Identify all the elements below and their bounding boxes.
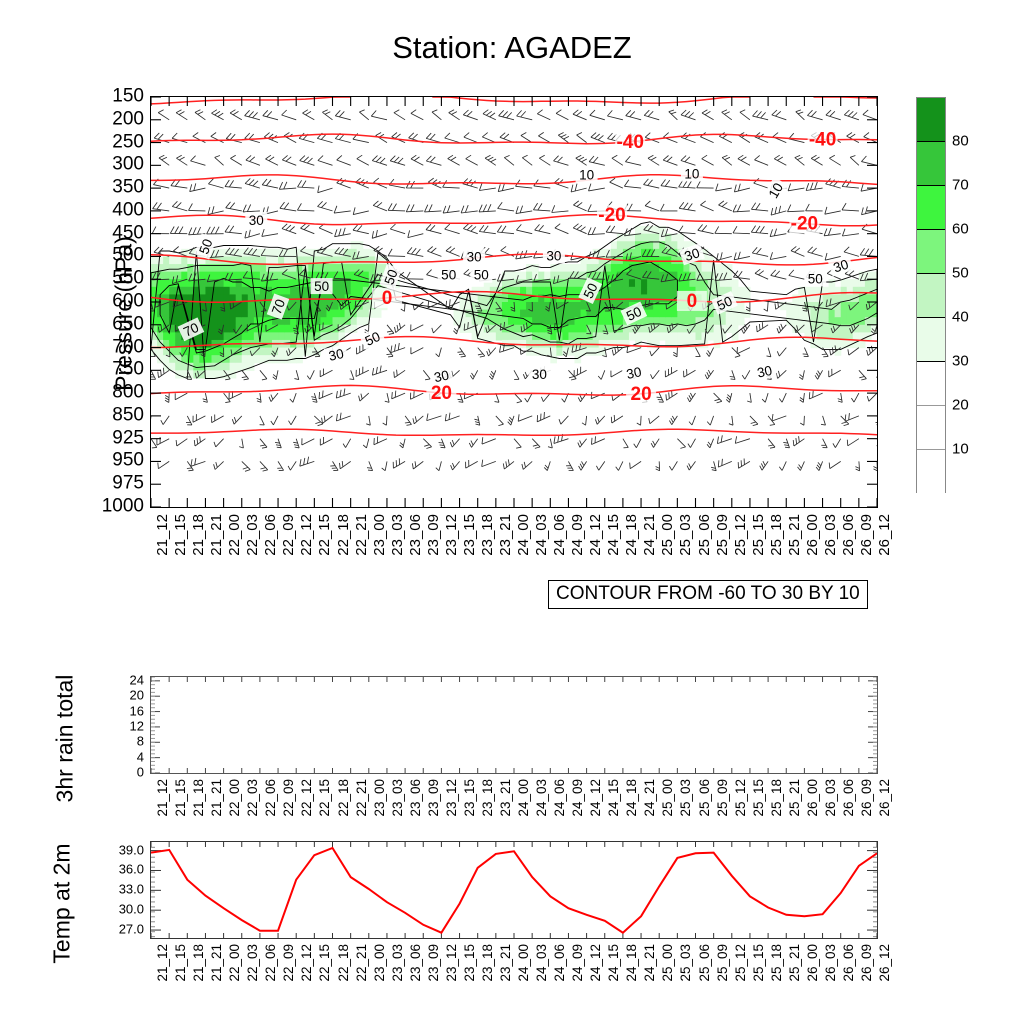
xtick: 25_03 <box>678 944 693 982</box>
xtick: 21_12 <box>155 944 170 982</box>
xtick: 25_06 <box>697 944 712 982</box>
xtick: 26_12 <box>877 779 892 817</box>
xtick: 22_06 <box>263 944 278 982</box>
xtick: 22_12 <box>299 514 314 556</box>
rain-plot[interactable] <box>150 676 878 774</box>
xtick: 22_21 <box>354 779 369 817</box>
isotherm-label: 20 <box>431 383 452 404</box>
xtick: 21_18 <box>191 514 206 556</box>
xtick: 23_09 <box>426 944 441 982</box>
cross-section-canvas: -40-40-20-200020203050707050505050503030… <box>151 97 877 507</box>
isotherm-label: -20 <box>791 214 818 235</box>
xtick: 26_12 <box>877 514 892 556</box>
xtick: 24_12 <box>588 514 603 556</box>
xtick: 24_18 <box>624 944 639 982</box>
xtick: 24_00 <box>516 944 531 982</box>
rain-ytick: 12 <box>130 719 144 732</box>
main-ytick: 450 <box>112 223 144 242</box>
xtick: 21_21 <box>209 779 224 817</box>
xtick: 23_06 <box>408 779 423 817</box>
xtick: 24_15 <box>606 779 621 817</box>
colorbar-tick: 60 <box>952 222 969 237</box>
xtick: 21_18 <box>191 944 206 982</box>
xtick: 23_15 <box>462 779 477 817</box>
xtick: 25_06 <box>697 779 712 817</box>
xtick: 26_00 <box>805 514 820 556</box>
xtick: 24_12 <box>588 779 603 817</box>
rh-label: 30 <box>327 346 345 364</box>
colorbar-band <box>917 274 945 318</box>
xtick: 23_21 <box>498 779 513 817</box>
colorbar-tick: 30 <box>952 354 969 369</box>
xtick: 23_15 <box>462 944 477 982</box>
colorbar-band <box>917 362 945 406</box>
xtick: 26_03 <box>823 779 838 817</box>
xtick: 23_18 <box>480 944 495 982</box>
xtick: 25_15 <box>751 779 766 817</box>
isotherm-label: 20 <box>631 384 652 405</box>
rain-ticks <box>151 677 877 773</box>
xtick: 25_06 <box>697 514 712 556</box>
xtick: 24_21 <box>642 779 657 817</box>
xtick: 25_21 <box>787 944 802 982</box>
xtick: 24_09 <box>570 944 585 982</box>
xtick: 26_09 <box>859 514 874 556</box>
rain-canvas <box>151 677 877 773</box>
temp-xaxis-ticklabels: 21_1221_1521_1821_2122_0022_0322_0622_09… <box>150 944 878 1008</box>
xtick: 25_09 <box>715 944 730 982</box>
xtick: 24_00 <box>516 514 531 556</box>
temp-ytick: 33.0 <box>119 883 144 896</box>
xtick: 22_00 <box>227 514 242 556</box>
xtick: 25_21 <box>787 779 802 817</box>
xtick: 22_12 <box>299 779 314 817</box>
xtick: 23_12 <box>444 944 459 982</box>
xtick: 22_06 <box>263 514 278 556</box>
xtick: 25_00 <box>660 514 675 556</box>
xtick: 24_09 <box>570 779 585 817</box>
xtick: 22_00 <box>227 779 242 817</box>
rh-label: 30 <box>249 213 264 228</box>
main-ytick: 250 <box>112 132 144 151</box>
xtick: 24_21 <box>642 514 657 556</box>
rh-label: 30 <box>532 367 547 382</box>
xtick: 21_12 <box>155 779 170 817</box>
xtick: 22_03 <box>245 514 260 556</box>
xtick: 23_00 <box>372 944 387 982</box>
xtick: 21_15 <box>173 779 188 817</box>
xtick: 21_15 <box>173 514 188 556</box>
xtick: 22_18 <box>336 944 351 982</box>
main-ytick: 400 <box>112 200 144 219</box>
colorbar-tick: 20 <box>952 398 969 413</box>
xtick: 26_00 <box>805 944 820 982</box>
xtick: 24_18 <box>624 514 639 556</box>
xtick: 25_03 <box>678 779 693 817</box>
xtick: 22_03 <box>245 779 260 817</box>
rain-ytick: 8 <box>137 735 144 748</box>
xtick: 25_21 <box>787 514 802 556</box>
colorbar-band <box>917 186 945 230</box>
xtick: 25_15 <box>751 514 766 556</box>
temp-yaxis-title: Temp at 2m <box>49 804 76 1004</box>
main-yaxis-ticklabels: 1502002503003504004505005506006507007508… <box>60 96 144 508</box>
xtick: 23_03 <box>390 944 405 982</box>
colorbar-band <box>917 142 945 186</box>
rain-yaxis-ticklabels: 04812162024 <box>96 676 144 774</box>
xtick: 22_18 <box>336 779 351 817</box>
temp-ytick: 36.0 <box>119 863 144 876</box>
xtick: 25_15 <box>751 944 766 982</box>
xtick: 26_06 <box>841 944 856 982</box>
contour-note-box: CONTOUR FROM -60 TO 30 BY 10 <box>548 580 868 609</box>
rain-ytick: 16 <box>130 704 144 717</box>
colorbar-labels: 8070605040302010 <box>952 97 1012 493</box>
xtick: 25_18 <box>769 944 784 982</box>
temp-series-line <box>151 848 877 933</box>
xtick: 23_21 <box>498 944 513 982</box>
rh-label: 10 <box>684 167 699 182</box>
rh-label: 50 <box>441 268 456 283</box>
xtick: 25_12 <box>733 514 748 556</box>
xtick: 24_06 <box>552 514 567 556</box>
rain-ytick: 24 <box>130 673 144 686</box>
xtick: 24_06 <box>552 779 567 817</box>
isotherm-label: -40 <box>616 132 643 153</box>
cross-section-plot[interactable]: -40-40-20-200020203050707050505050503030… <box>150 96 878 508</box>
main-ytick: 700 <box>112 337 144 356</box>
main-ytick: 350 <box>112 178 144 197</box>
temp-canvas <box>151 842 877 938</box>
main-ytick: 500 <box>112 246 144 265</box>
xtick: 26_03 <box>823 514 838 556</box>
xtick: 23_00 <box>372 514 387 556</box>
xtick: 24_21 <box>642 944 657 982</box>
main-ytick: 925 <box>112 428 144 447</box>
xtick: 26_03 <box>823 944 838 982</box>
xtick: 22_09 <box>281 944 296 982</box>
colorbar-tick: 40 <box>952 310 969 325</box>
rain-ytick: 4 <box>137 750 144 763</box>
temp-ticks <box>151 842 877 938</box>
rh-label: 30 <box>467 249 482 264</box>
xtick: 26_06 <box>841 514 856 556</box>
main-ytick: 150 <box>112 87 144 106</box>
xtick: 23_21 <box>498 514 513 556</box>
isotherm-label: 0 <box>687 291 698 312</box>
xtick: 24_12 <box>588 944 603 982</box>
rh-label: 30 <box>546 249 561 264</box>
xtick: 23_09 <box>426 514 441 556</box>
xtick: 25_12 <box>733 779 748 817</box>
rh-label: 30 <box>433 367 451 385</box>
main-ytick: 750 <box>112 360 144 379</box>
xtick: 23_03 <box>390 779 405 817</box>
xtick: 21_18 <box>191 779 206 817</box>
rh-label: 30 <box>625 364 643 382</box>
xtick: 22_12 <box>299 944 314 982</box>
isotherm-label: -20 <box>598 205 625 226</box>
rain-xaxis-ticklabels: 21_1221_1521_1821_2122_0022_0322_0622_09… <box>150 779 878 843</box>
main-ytick: 950 <box>112 451 144 470</box>
xtick: 22_18 <box>336 514 351 556</box>
xtick: 25_18 <box>769 514 784 556</box>
temp-ytick: 30.0 <box>119 903 144 916</box>
temp-plot[interactable] <box>150 841 878 939</box>
colorbar-band <box>917 406 945 450</box>
xtick: 23_15 <box>462 514 477 556</box>
main-ytick: 1000 <box>102 497 144 516</box>
xtick: 22_15 <box>317 779 332 817</box>
rh-label: 10 <box>579 167 594 182</box>
xtick: 24_15 <box>606 944 621 982</box>
xtick: 23_06 <box>408 944 423 982</box>
xtick: 22_15 <box>317 944 332 982</box>
main-ytick: 300 <box>112 155 144 174</box>
xtick: 26_12 <box>877 944 892 982</box>
xtick: 21_21 <box>209 514 224 556</box>
rh-label: 50 <box>474 268 489 283</box>
main-ytick: 650 <box>112 314 144 333</box>
xtick: 23_18 <box>480 779 495 817</box>
colorbar-tick: 50 <box>952 266 969 281</box>
xtick: 24_15 <box>606 514 621 556</box>
xtick: 25_00 <box>660 944 675 982</box>
xtick: 24_03 <box>534 944 549 982</box>
xtick: 24_06 <box>552 944 567 982</box>
xtick: 23_09 <box>426 779 441 817</box>
xtick: 26_00 <box>805 779 820 817</box>
xtick: 23_03 <box>390 514 405 556</box>
xtick: 21_15 <box>173 944 188 982</box>
xtick: 22_06 <box>263 779 278 817</box>
main-ytick: 200 <box>112 109 144 128</box>
xtick: 25_03 <box>678 514 693 556</box>
xtick: 24_18 <box>624 779 639 817</box>
xtick: 25_09 <box>715 514 730 556</box>
temp-ytick: 39.0 <box>119 843 144 856</box>
xtick: 22_00 <box>227 944 242 982</box>
xtick: 25_09 <box>715 779 730 817</box>
xtick: 24_03 <box>534 514 549 556</box>
xtick: 24_00 <box>516 779 531 817</box>
chart-page: Station: AGADEZ Pressure (hPa) 150200250… <box>0 0 1024 1024</box>
colorbar-band <box>917 230 945 274</box>
main-ytick: 800 <box>112 383 144 402</box>
xtick: 22_09 <box>281 514 296 556</box>
main-xaxis-ticklabels: 21_1221_1521_1821_2122_0022_0322_0622_09… <box>150 514 878 578</box>
xtick: 22_03 <box>245 944 260 982</box>
rh-label: 50 <box>808 271 823 286</box>
colorbar-band <box>917 98 945 142</box>
colorbar <box>916 97 946 493</box>
main-ytick: 600 <box>112 292 144 311</box>
xtick: 24_09 <box>570 514 585 556</box>
xtick: 25_00 <box>660 779 675 817</box>
xtick: 22_09 <box>281 779 296 817</box>
colorbar-tick: 80 <box>952 134 969 149</box>
xtick: 26_06 <box>841 779 856 817</box>
colorbar-band <box>917 318 945 362</box>
xtick: 23_18 <box>480 514 495 556</box>
isotherm-label: 0 <box>382 288 393 309</box>
xtick: 23_12 <box>444 514 459 556</box>
xtick: 23_00 <box>372 779 387 817</box>
temp-yaxis-ticklabels: 27.030.033.036.039.0 <box>86 841 144 939</box>
colorbar-band <box>917 450 945 494</box>
rh-label: 30 <box>756 363 774 381</box>
rain-ytick: 0 <box>137 766 144 779</box>
isotherm-label: -40 <box>809 130 836 151</box>
xtick: 21_21 <box>209 944 224 982</box>
main-ytick: 850 <box>112 405 144 424</box>
main-ytick: 550 <box>112 269 144 288</box>
colorbar-tick: 10 <box>952 442 969 457</box>
colorbar-tick: 70 <box>952 178 969 193</box>
xtick: 23_06 <box>408 514 423 556</box>
xtick: 24_03 <box>534 779 549 817</box>
xtick: 22_21 <box>354 514 369 556</box>
xtick: 25_12 <box>733 944 748 982</box>
rh-label: 50 <box>314 279 329 294</box>
xtick: 25_18 <box>769 779 784 817</box>
xtick: 22_15 <box>317 514 332 556</box>
xtick: 22_21 <box>354 944 369 982</box>
xtick: 21_12 <box>155 514 170 556</box>
rain-ytick: 20 <box>130 689 144 702</box>
xtick: 26_09 <box>859 779 874 817</box>
xtick: 23_12 <box>444 779 459 817</box>
xtick: 26_09 <box>859 944 874 982</box>
main-ytick: 975 <box>112 474 144 493</box>
temp-ytick: 27.0 <box>119 923 144 936</box>
page-title: Station: AGADEZ <box>0 30 1024 66</box>
